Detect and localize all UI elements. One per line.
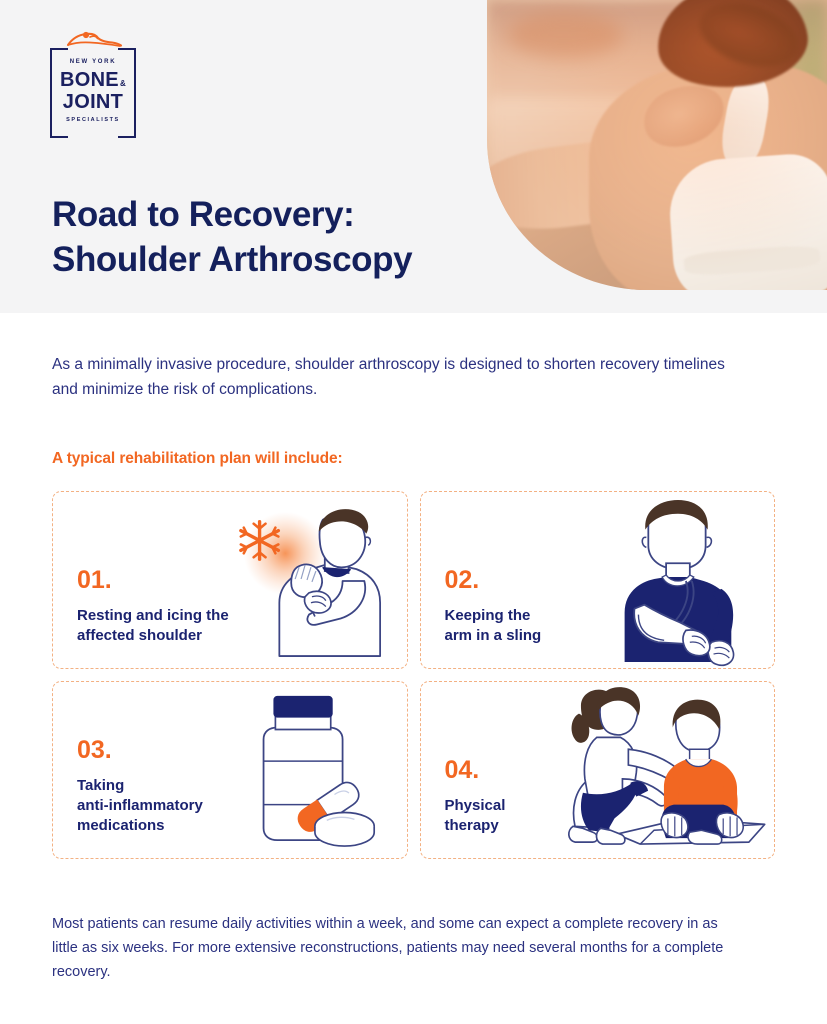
man-with-arm-sling-illustration — [586, 498, 764, 662]
rehab-card-03-label: Taking anti-inflammatory medications — [77, 776, 203, 836]
logo-new-york-text: NEW YORK — [70, 59, 117, 65]
rehab-card-04-text: 04. Physical therapy — [445, 758, 506, 836]
rehab-card-01[interactable]: 01. Resting and icing the affected shoul… — [52, 491, 408, 669]
content-area: As a minimally invasive procedure, shoul… — [0, 352, 827, 984]
rehab-plan-subheading: A typical rehabilitation plan will inclu… — [52, 450, 775, 468]
ny-bone-and-joint-logo: NEW YORK BONE& JOINT SPECIALISTS — [50, 30, 136, 134]
rehab-card-04-label: Physical therapy — [445, 796, 506, 836]
logo-bone-word: BONE — [60, 70, 119, 90]
rehab-card-04-number: 04. — [445, 758, 506, 783]
physical-therapy-session-illustration — [544, 688, 772, 852]
rehab-steps-grid: 01. Resting and icing the affected shoul… — [52, 491, 775, 859]
logo-bone-text: BONE& — [60, 70, 126, 90]
logo-ampersand: & — [120, 80, 126, 88]
rehab-card-01-label: Resting and icing the affected shoulder — [77, 606, 229, 646]
reclining-figure-icon — [64, 30, 124, 50]
outro-paragraph: Most patients can resume daily activitie… — [52, 912, 742, 984]
rehab-card-01-text: 01. Resting and icing the affected shoul… — [77, 568, 229, 646]
hero-warm-overlay — [487, 0, 827, 290]
logo-wordmark: NEW YORK BONE& JOINT SPECIALISTS — [50, 48, 136, 134]
rehab-card-03[interactable]: 03. Taking anti-inflammatory medications — [52, 681, 408, 859]
man-icing-shoulder-illustration — [219, 498, 397, 662]
pill-bottle-illustration — [219, 688, 397, 852]
page-title: Road to Recovery: Shoulder Arthroscopy — [52, 193, 412, 283]
rehab-card-01-number: 01. — [77, 568, 229, 593]
intro-paragraph: As a minimally invasive procedure, shoul… — [52, 352, 732, 402]
hero-photo — [487, 0, 827, 290]
rehab-card-02-label: Keeping the arm in a sling — [445, 606, 542, 646]
infographic-page: NEW YORK BONE& JOINT SPECIALISTS Road to… — [0, 0, 827, 1024]
rehab-card-03-text: 03. Taking anti-inflammatory medications — [77, 738, 203, 836]
rehab-card-02-number: 02. — [445, 568, 542, 593]
rehab-card-02-text: 02. Keeping the arm in a sling — [445, 568, 542, 646]
logo-joint-text: JOINT — [63, 92, 123, 112]
rehab-card-02[interactable]: 02. Keeping the arm in a sling — [420, 491, 776, 669]
rehab-card-03-number: 03. — [77, 738, 203, 763]
header-band: NEW YORK BONE& JOINT SPECIALISTS Road to… — [0, 0, 827, 313]
rehab-card-04[interactable]: 04. Physical therapy — [420, 681, 776, 859]
logo-specialists-text: SPECIALISTS — [66, 118, 120, 124]
